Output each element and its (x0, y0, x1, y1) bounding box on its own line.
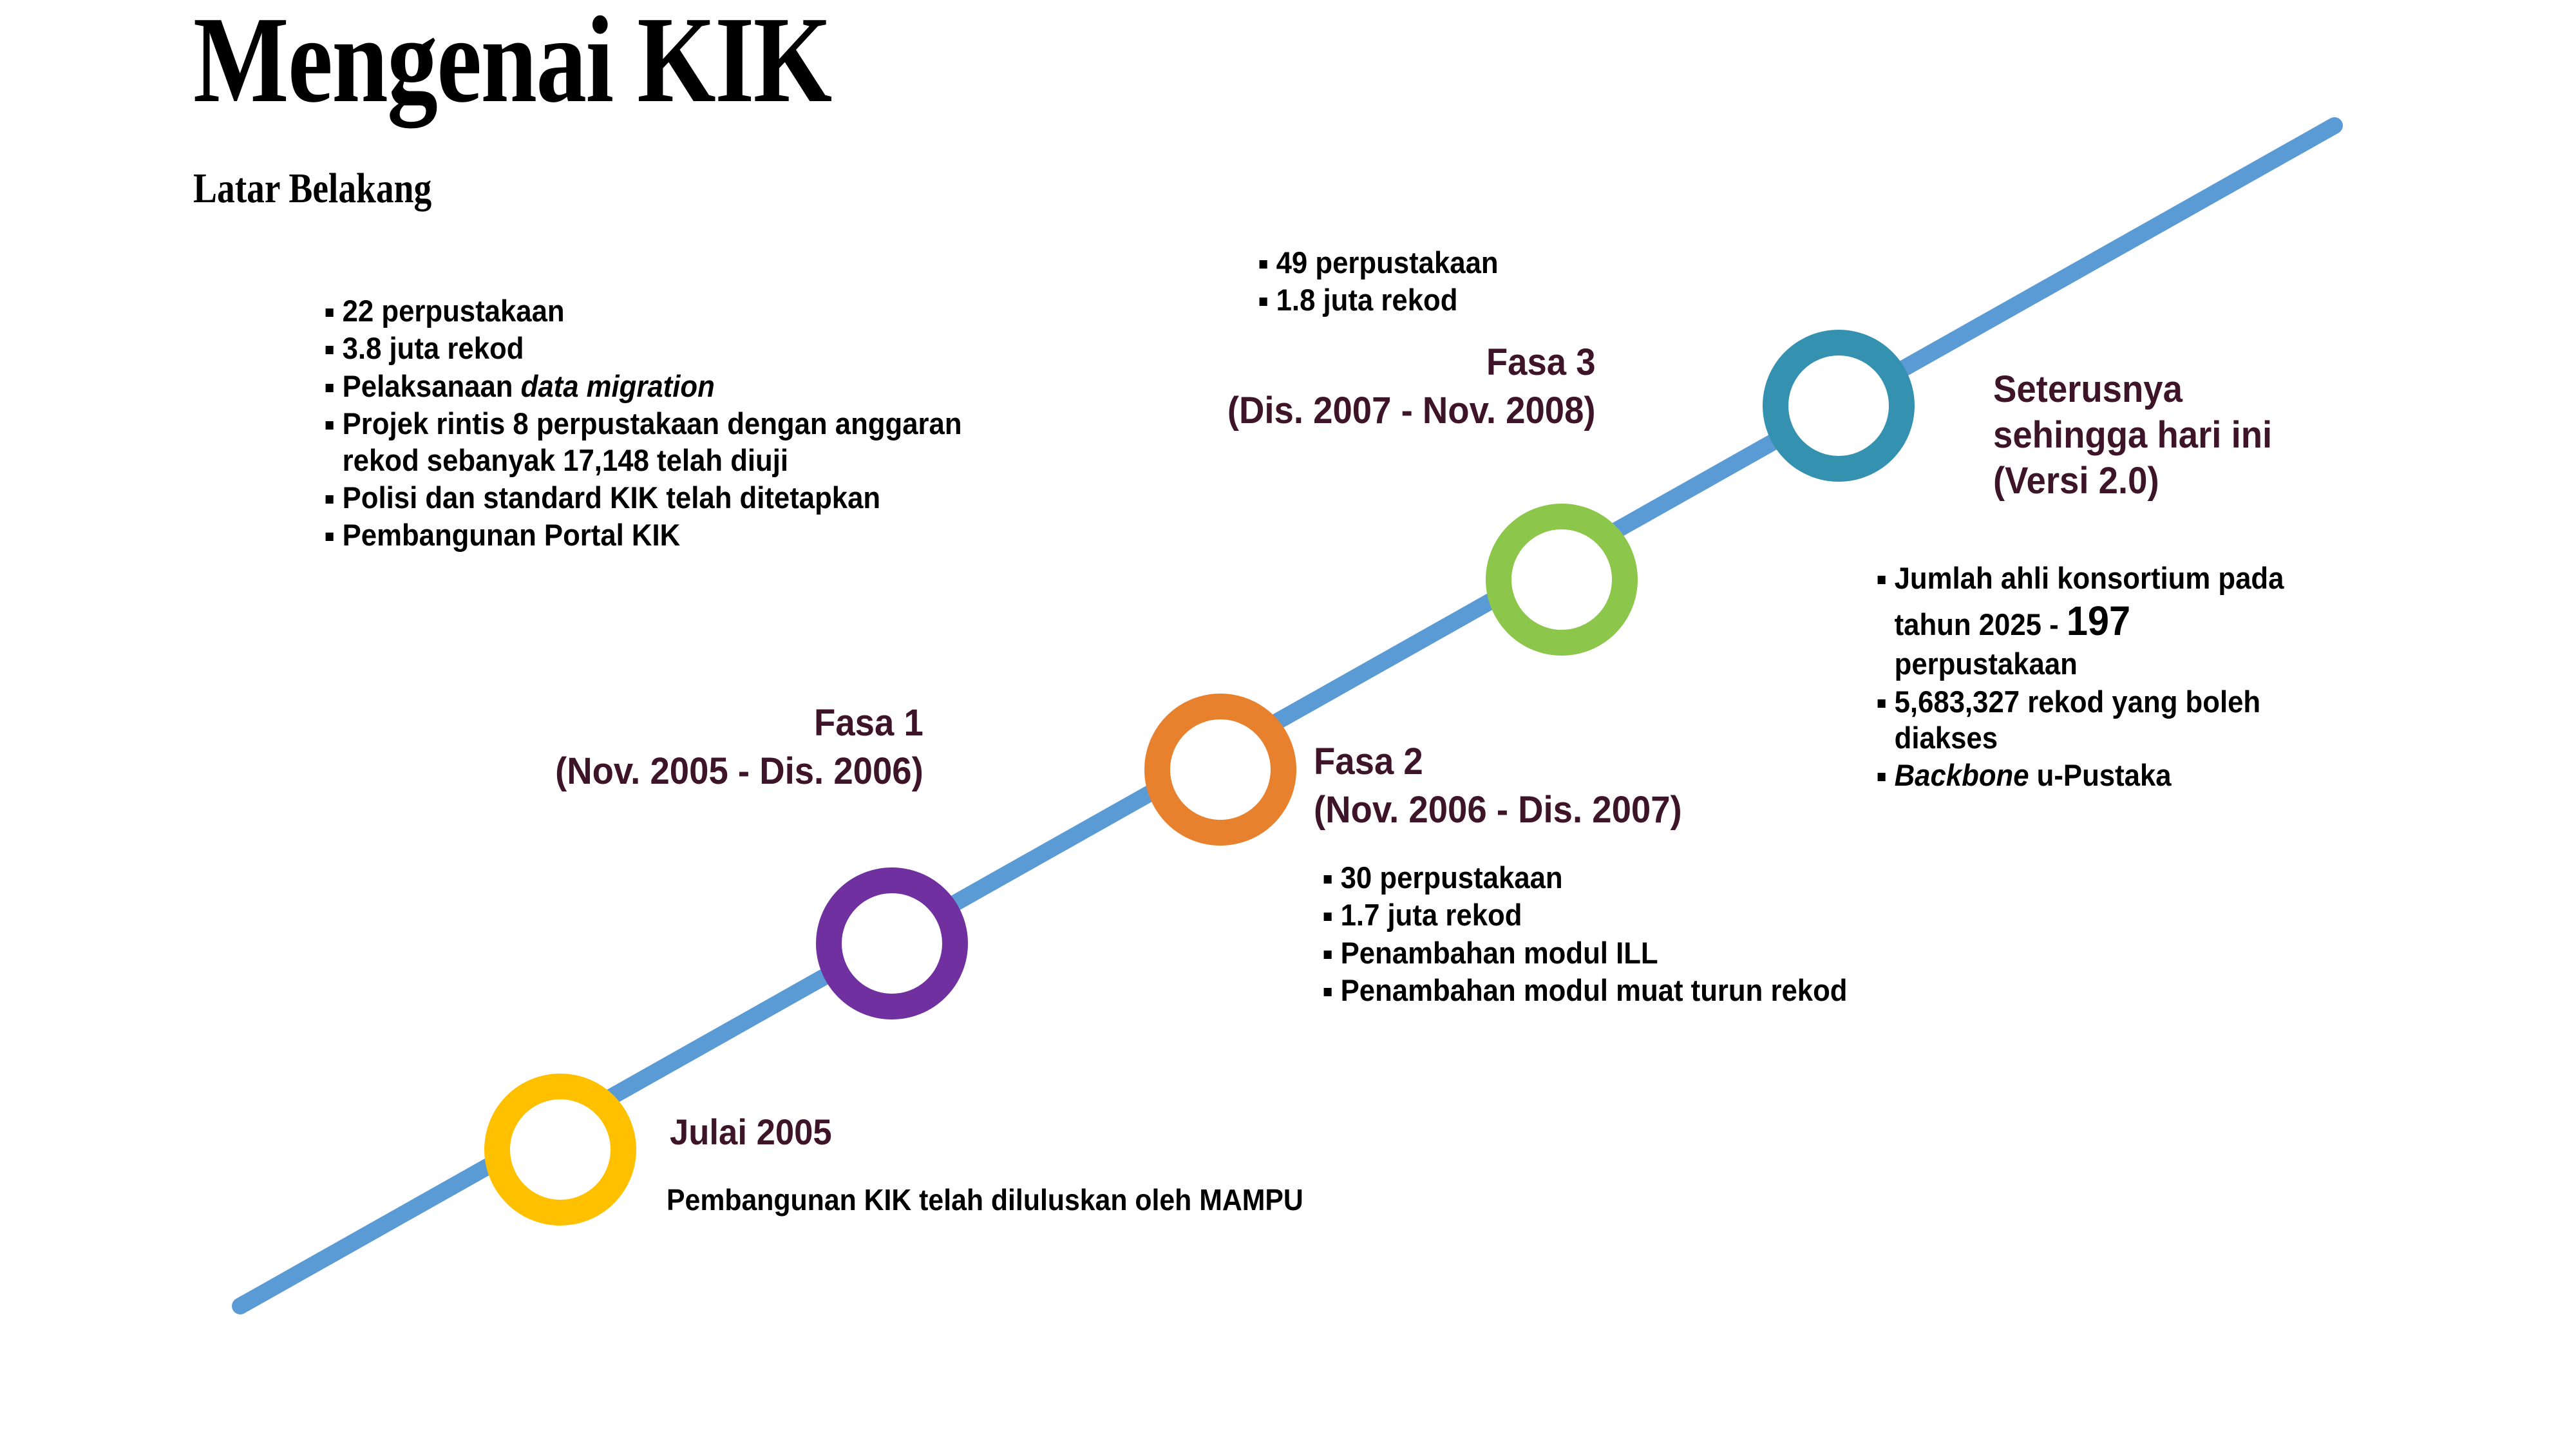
list-item: 5,683,327 rekod yang boleh diakses (1874, 684, 2311, 757)
slide-canvas: Mengenai KIK Latar Belakang 22 perpustak… (0, 0, 2576, 1449)
list-item: 3.8 juta rekod (322, 330, 993, 366)
fasa-3-label-line2: (Dis. 2007 - Nov. 2008) (1117, 386, 1596, 435)
page-subtitle: Latar Belakang (193, 164, 431, 213)
fasa-1-label: Fasa 1 (Nov. 2005 - Dis. 2006) (457, 699, 923, 796)
fasa-3-label-line1: Fasa 3 (1117, 338, 1596, 386)
fasa-2-label-line1: Fasa 2 (1314, 737, 1682, 786)
fasa-3-bullets: 49 perpustakaan 1.8 juta rekod (1256, 245, 1655, 320)
list-item: Pembangunan Portal KIK (322, 517, 993, 553)
node-fasa-1 (829, 880, 955, 1007)
fasa-2-label: Fasa 2 (Nov. 2006 - Dis. 2007) (1314, 737, 1682, 835)
list-item: Jumlah ahli konsortium pada tahun 2025 -… (1874, 560, 2311, 683)
node-julai-2005 (497, 1086, 623, 1213)
node-versi-2 (1776, 343, 1902, 469)
list-item: 22 perpustakaan (322, 293, 993, 329)
julai-2005-description: Pembangunan KIK telah diluluskan oleh MA… (667, 1182, 1385, 1218)
fasa-1-label-line1: Fasa 1 (457, 699, 923, 747)
list-item: Penambahan modul ILL (1320, 935, 1859, 971)
fasa-2-label-line2: (Nov. 2006 - Dis. 2007) (1314, 786, 1682, 834)
node-fasa-2 (1157, 706, 1283, 833)
list-item: 49 perpustakaan (1256, 245, 1627, 281)
list-item: Backbone u-Pustaka (1874, 757, 2311, 793)
list-item: Projek rintis 8 perpustakaan dengan angg… (322, 406, 993, 478)
fasa-1-bullets: 22 perpustakaan 3.8 juta rekod Pelaksana… (322, 293, 1043, 555)
fasa-3-label: Fasa 3 (Dis. 2007 - Nov. 2008) (1117, 338, 1596, 435)
node-fasa-3 (1499, 516, 1625, 643)
list-item: 1.8 juta rekod (1256, 282, 1627, 318)
fasa-1-label-line2: (Nov. 2005 - Dis. 2006) (457, 747, 923, 795)
list-item: Polisi dan standard KIK telah ditetapkan (322, 480, 993, 516)
fasa-2-bullets: 30 perpustakaan 1.7 juta rekod Penambaha… (1320, 860, 1900, 1010)
list-item: 30 perpustakaan (1320, 860, 1859, 896)
versi-2-label: Seterusnya sehingga hari ini (Versi 2.0) (1993, 367, 2308, 504)
page-title: Mengenai KIK (193, 0, 831, 125)
list-item: Penambahan modul muat turun rekod (1320, 972, 1859, 1009)
julai-2005-label: Julai 2005 (670, 1111, 832, 1153)
list-item: Pelaksanaan data migration (322, 368, 993, 404)
list-item: 1.7 juta rekod (1320, 897, 1859, 933)
versi-2-bullets: Jumlah ahli konsortium pada tahun 2025 -… (1874, 560, 2344, 795)
